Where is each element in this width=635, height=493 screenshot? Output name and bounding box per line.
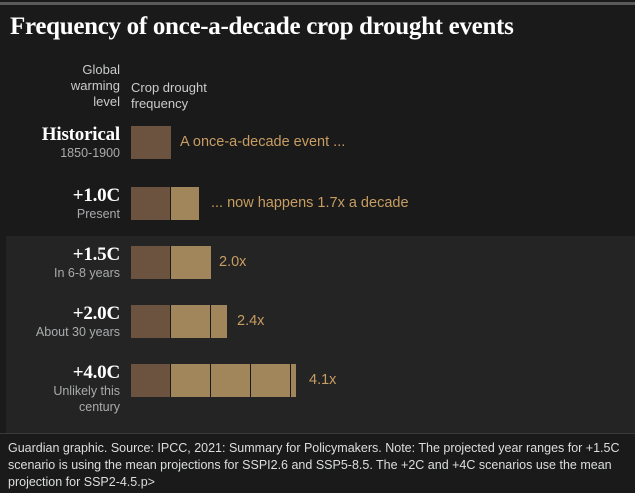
column-header-line-1: Global xyxy=(82,62,120,77)
row-level: +2.0C xyxy=(10,303,120,324)
bar-segment-base xyxy=(131,305,171,338)
bar-segment-base xyxy=(131,126,171,159)
column-header-line-3: level xyxy=(93,94,120,109)
row-sublabel-line-1: Unlikely this xyxy=(10,383,120,399)
bar-segment-partial xyxy=(211,305,227,338)
bar-plus-2-0c xyxy=(131,305,227,338)
top-rule-divider xyxy=(0,2,635,5)
bar-segment-extra xyxy=(171,187,199,220)
row-label-plus-4-0c: +4.0C Unlikely this century xyxy=(10,362,120,415)
bar-annotation: ... now happens 1.7x a decade xyxy=(211,193,409,213)
bar-track xyxy=(131,305,227,338)
bar-segment-extra xyxy=(171,364,211,397)
table-row: +1.5C In 6-8 years 2.0x xyxy=(0,244,635,292)
frequency-header-line-2: frequency xyxy=(131,96,188,111)
bar-annotation: A once-a-decade event ... xyxy=(180,132,345,152)
row-level: +4.0C xyxy=(10,362,120,383)
bar-plus-1-5c xyxy=(131,246,211,279)
bar-track xyxy=(131,126,171,159)
bar-segment-base xyxy=(131,364,171,397)
row-label-plus-2-0c: +2.0C About 30 years xyxy=(10,303,120,340)
bar-value-label: 2.0x xyxy=(219,252,246,272)
source-note: Guardian graphic. Source: IPCC, 2021: Su… xyxy=(8,440,628,491)
bar-value-label: 2.4x xyxy=(237,311,264,331)
frequency-header-line-1: Crop drought xyxy=(131,80,207,95)
column-header-warming-level: Global warming level xyxy=(20,62,120,110)
bar-segment-partial xyxy=(291,364,296,397)
bar-segment-extra xyxy=(251,364,291,397)
page-title: Frequency of once-a-decade crop drought … xyxy=(10,12,625,42)
row-level: +1.0C xyxy=(10,185,120,206)
row-label-plus-1-5c: +1.5C In 6-8 years xyxy=(10,244,120,281)
row-sublabel: In 6-8 years xyxy=(10,265,120,281)
row-sublabel: About 30 years xyxy=(10,324,120,340)
bar-value-label: 4.1x xyxy=(309,370,336,390)
bar-segment-extra xyxy=(171,305,211,338)
bar-segment-base xyxy=(131,246,171,279)
table-row: +4.0C Unlikely this century 4.1x xyxy=(0,362,635,424)
row-level: Historical xyxy=(10,124,120,145)
row-sublabel: 1850-1900 xyxy=(10,145,120,161)
bar-track xyxy=(131,246,211,279)
bar-segment-extra xyxy=(211,364,251,397)
bar-track xyxy=(131,187,199,220)
chart-container: Frequency of once-a-decade crop drought … xyxy=(0,0,635,493)
row-label-plus-1-0c: +1.0C Present xyxy=(10,185,120,222)
column-header-line-2: warming xyxy=(71,78,120,93)
bar-plus-1-0c xyxy=(131,187,199,220)
bar-historical xyxy=(131,126,171,159)
bar-segment-extra xyxy=(171,246,211,279)
table-row: +1.0C Present ... now happens 1.7x a dec… xyxy=(0,185,635,233)
table-row: +2.0C About 30 years 2.4x xyxy=(0,303,635,351)
column-header-crop-drought-frequency: Crop drought frequency xyxy=(131,80,331,112)
row-level: +1.5C xyxy=(10,244,120,265)
bar-track xyxy=(131,364,296,397)
footer-divider xyxy=(0,433,635,434)
row-sublabel: Present xyxy=(10,206,120,222)
bar-plus-4-0c xyxy=(131,364,296,397)
bar-segment-base xyxy=(131,187,171,220)
table-row: Historical 1850-1900 A once-a-decade eve… xyxy=(0,124,635,172)
row-sublabel-line-2: century xyxy=(10,399,120,415)
row-label-historical: Historical 1850-1900 xyxy=(10,124,120,161)
